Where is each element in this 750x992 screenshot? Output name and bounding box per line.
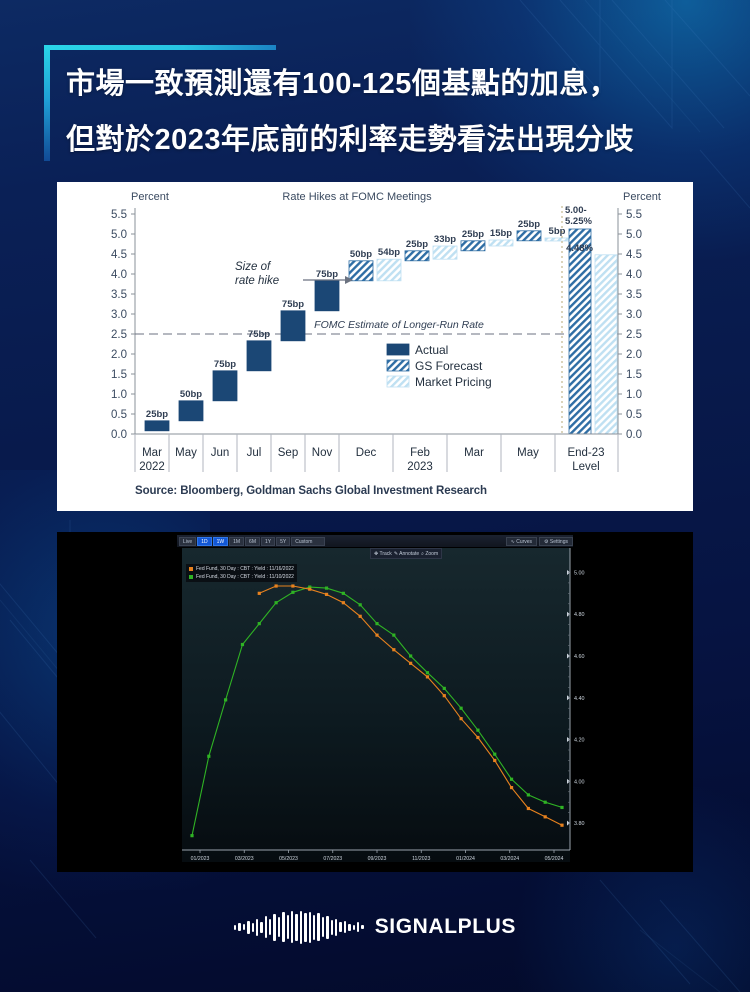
- svg-text:4.5: 4.5: [111, 249, 127, 261]
- svg-text:5bp: 5bp: [549, 226, 566, 237]
- svg-text:4.80: 4.80: [574, 612, 585, 618]
- svg-text:50bp: 50bp: [180, 389, 202, 400]
- svg-text:5.00-: 5.00-: [565, 205, 587, 216]
- legend-row: Fed Fund, 30 Day : CBT : Yield : 11/10/2…: [189, 573, 294, 581]
- svg-text:54bp: 54bp: [378, 247, 400, 258]
- svg-text:Size of: Size of: [235, 261, 272, 273]
- waveform-bar: [287, 915, 289, 939]
- svg-text:07/2023: 07/2023: [323, 856, 342, 862]
- range-button-1y[interactable]: 1Y: [261, 537, 275, 546]
- svg-text:May: May: [175, 447, 197, 459]
- waveform-bar: [234, 925, 236, 930]
- headline-line-2: 但對於2023年底前的利率走勢看法出現分歧: [44, 112, 704, 168]
- waveform-bar: [282, 912, 284, 942]
- svg-text:25bp: 25bp: [462, 229, 484, 240]
- svg-text:05/2024: 05/2024: [545, 856, 564, 862]
- legend-row: Fed Fund, 30 Day : CBT : Yield : 11/16/2…: [189, 565, 294, 573]
- headline-accent-rule: [44, 45, 276, 50]
- svg-text:5.5: 5.5: [626, 209, 642, 221]
- svg-text:0.0: 0.0: [626, 429, 642, 441]
- bloomberg-range-buttons[interactable]: Live1D1W1M6M1Y5YCustom: [177, 537, 326, 546]
- waveform-bar: [335, 919, 337, 936]
- tool-annotate[interactable]: ✎ Annotate: [394, 551, 419, 557]
- svg-text:3.80: 3.80: [574, 821, 585, 827]
- svg-text:25bp: 25bp: [406, 239, 428, 250]
- svg-text:May: May: [517, 447, 539, 459]
- svg-text:5.25%: 5.25%: [565, 216, 592, 227]
- svg-text:15bp: 15bp: [490, 228, 512, 239]
- svg-text:1.5: 1.5: [626, 369, 642, 381]
- svg-text:03/2024: 03/2024: [500, 856, 519, 862]
- svg-text:Jul: Jul: [247, 447, 262, 459]
- svg-text:Sep: Sep: [278, 447, 298, 459]
- range-button-1w[interactable]: 1W: [213, 537, 229, 546]
- svg-text:Jun: Jun: [211, 447, 230, 459]
- svg-text:Percent: Percent: [623, 191, 661, 203]
- legend-label: Fed Fund, 30 Day : CBT : Yield : 11/10/2…: [196, 574, 294, 580]
- legend-label: Fed Fund, 30 Day : CBT : Yield : 11/16/2…: [196, 566, 294, 572]
- svg-text:75bp: 75bp: [316, 269, 338, 280]
- toolbar-curves-button[interactable]: ∿ Curves: [506, 537, 537, 546]
- waveform-bar: [309, 912, 311, 943]
- waveform-bar: [260, 922, 262, 933]
- svg-text:2.5: 2.5: [111, 329, 127, 341]
- waveform-bar: [331, 920, 333, 935]
- svg-text:rate hike: rate hike: [235, 275, 279, 287]
- svg-text:2.0: 2.0: [111, 349, 127, 361]
- svg-text:4.20: 4.20: [574, 738, 585, 744]
- svg-text:Actual: Actual: [415, 343, 448, 357]
- svg-text:33bp: 33bp: [434, 234, 456, 245]
- svg-text:2022: 2022: [139, 461, 165, 473]
- svg-text:GS Forecast: GS Forecast: [415, 359, 483, 373]
- legend-color-swatch: [189, 575, 193, 579]
- svg-text:5.00: 5.00: [574, 570, 585, 576]
- waveform-bar: [256, 919, 258, 936]
- headline-accent-bar: [44, 45, 50, 161]
- waveform-bar: [361, 925, 363, 929]
- svg-text:0.0: 0.0: [111, 429, 127, 441]
- svg-text:1.5: 1.5: [111, 369, 127, 381]
- waveform-bar: [238, 923, 240, 931]
- svg-text:4.40: 4.40: [574, 696, 585, 702]
- legend-color-swatch: [189, 567, 193, 571]
- svg-text:75bp: 75bp: [282, 299, 304, 310]
- tool-zoom[interactable]: ⌕ Zoom: [421, 551, 438, 557]
- svg-text:Rate Hikes at FOMC Meetings: Rate Hikes at FOMC Meetings: [282, 191, 432, 203]
- range-button-1m[interactable]: 1M: [229, 537, 244, 546]
- waveform-bar: [313, 915, 315, 940]
- waveform-bar: [339, 922, 341, 932]
- svg-text:3.0: 3.0: [626, 309, 642, 321]
- svg-text:Mar: Mar: [464, 447, 484, 459]
- svg-text:05/2023: 05/2023: [279, 856, 298, 862]
- svg-text:End-23: End-23: [567, 447, 604, 459]
- svg-text:Dec: Dec: [356, 447, 377, 459]
- svg-text:2023: 2023: [407, 461, 433, 473]
- bloomberg-toolbar-right[interactable]: ∿ Curves⚙ Settings: [504, 537, 573, 546]
- svg-text:Nov: Nov: [312, 447, 333, 459]
- fomc-source-caption: Source: Bloomberg, Goldman Sachs Global …: [135, 485, 487, 497]
- range-button-1d[interactable]: 1D: [197, 537, 211, 546]
- svg-text:5.5: 5.5: [111, 209, 127, 221]
- tool-track[interactable]: ✥ Track: [374, 551, 392, 557]
- svg-text:25bp: 25bp: [146, 409, 168, 420]
- svg-text:03/2023: 03/2023: [235, 856, 254, 862]
- svg-text:75bp: 75bp: [248, 329, 270, 340]
- svg-text:09/2023: 09/2023: [368, 856, 387, 862]
- svg-text:FOMC Estimate of Longer-Run Ra: FOMC Estimate of Longer-Run Rate: [314, 319, 484, 331]
- range-button-live[interactable]: Live: [179, 537, 196, 546]
- waveform-bar: [265, 916, 267, 938]
- waveform-bar: [243, 924, 245, 930]
- svg-text:Level: Level: [572, 461, 600, 473]
- svg-text:4.60: 4.60: [574, 654, 585, 660]
- headline-block: 市場一致預測還有100-125個基點的加息， 但對於2023年底前的利率走勢看法…: [44, 45, 704, 168]
- waveform-bar: [295, 914, 297, 941]
- bloomberg-tool-modes[interactable]: ✥ Track✎ Annotate⌕ Zoom: [370, 548, 442, 559]
- waveform-bar: [322, 917, 324, 937]
- svg-text:3.0: 3.0: [111, 309, 127, 321]
- svg-text:01/2024: 01/2024: [456, 856, 475, 862]
- svg-text:Feb: Feb: [410, 447, 430, 459]
- waveform-bar: [291, 911, 293, 943]
- waveform-bar: [304, 913, 306, 942]
- svg-text:0.5: 0.5: [626, 409, 642, 421]
- range-button-custom[interactable]: Custom: [291, 537, 325, 546]
- range-button-5y[interactable]: 5Y: [276, 537, 290, 546]
- waveform-bar: [357, 922, 359, 932]
- waveform-bar: [344, 921, 346, 933]
- waveform-bar: [326, 916, 328, 939]
- brand-name: SIGNALPLUS: [375, 915, 516, 939]
- fomc-chart-card: PercentRate Hikes at FOMC MeetingsPercen…: [57, 182, 693, 511]
- waveform-icon: [234, 910, 364, 944]
- svg-text:50bp: 50bp: [350, 249, 372, 260]
- svg-text:4.48%: 4.48%: [566, 243, 593, 254]
- bloomberg-toolbar: Live1D1W1M6M1Y5YCustom ∿ Curves⚙ Setting…: [177, 535, 573, 547]
- svg-text:3.5: 3.5: [626, 289, 642, 301]
- bloomberg-series-legend: Fed Fund, 30 Day : CBT : Yield : 11/16/2…: [186, 564, 297, 582]
- svg-text:4.00: 4.00: [574, 779, 585, 785]
- bloomberg-chart-card: 5.004.804.604.404.204.003.8001/202303/20…: [57, 532, 693, 872]
- waveform-bar: [300, 911, 302, 944]
- waveform-bar: [317, 913, 319, 941]
- range-button-6m[interactable]: 6M: [245, 537, 260, 546]
- waveform-bar: [269, 919, 271, 935]
- waveform-bar: [273, 914, 275, 941]
- svg-text:3.5: 3.5: [111, 289, 127, 301]
- svg-text:Market Pricing: Market Pricing: [415, 375, 492, 389]
- svg-text:2.5: 2.5: [626, 329, 642, 341]
- toolbar-settings-button[interactable]: ⚙ Settings: [539, 537, 573, 546]
- svg-text:4.5: 4.5: [626, 249, 642, 261]
- svg-text:1.0: 1.0: [626, 389, 642, 401]
- svg-text:5.0: 5.0: [111, 229, 127, 241]
- waveform-bar: [252, 923, 254, 932]
- headline-line-1: 市場一致預測還有100-125個基點的加息，: [44, 56, 704, 112]
- waveform-bar: [353, 925, 355, 930]
- svg-text:11/2023: 11/2023: [412, 856, 430, 862]
- svg-text:25bp: 25bp: [518, 219, 540, 230]
- svg-text:0.5: 0.5: [111, 409, 127, 421]
- fomc-chart-canvas: PercentRate Hikes at FOMC MeetingsPercen…: [57, 182, 693, 511]
- svg-text:75bp: 75bp: [214, 359, 236, 370]
- waveform-bar: [247, 921, 249, 934]
- waveform-bar: [278, 917, 280, 937]
- svg-text:01/2023: 01/2023: [191, 856, 210, 862]
- brand-logo: SIGNALPLUS: [0, 910, 750, 944]
- svg-text:5.0: 5.0: [626, 229, 642, 241]
- svg-text:1.0: 1.0: [111, 389, 127, 401]
- svg-text:4.0: 4.0: [626, 269, 642, 281]
- waveform-bar: [348, 924, 350, 931]
- svg-text:4.0: 4.0: [111, 269, 127, 281]
- svg-text:Percent: Percent: [131, 191, 169, 203]
- svg-text:Mar: Mar: [142, 447, 162, 459]
- svg-text:2.0: 2.0: [626, 349, 642, 361]
